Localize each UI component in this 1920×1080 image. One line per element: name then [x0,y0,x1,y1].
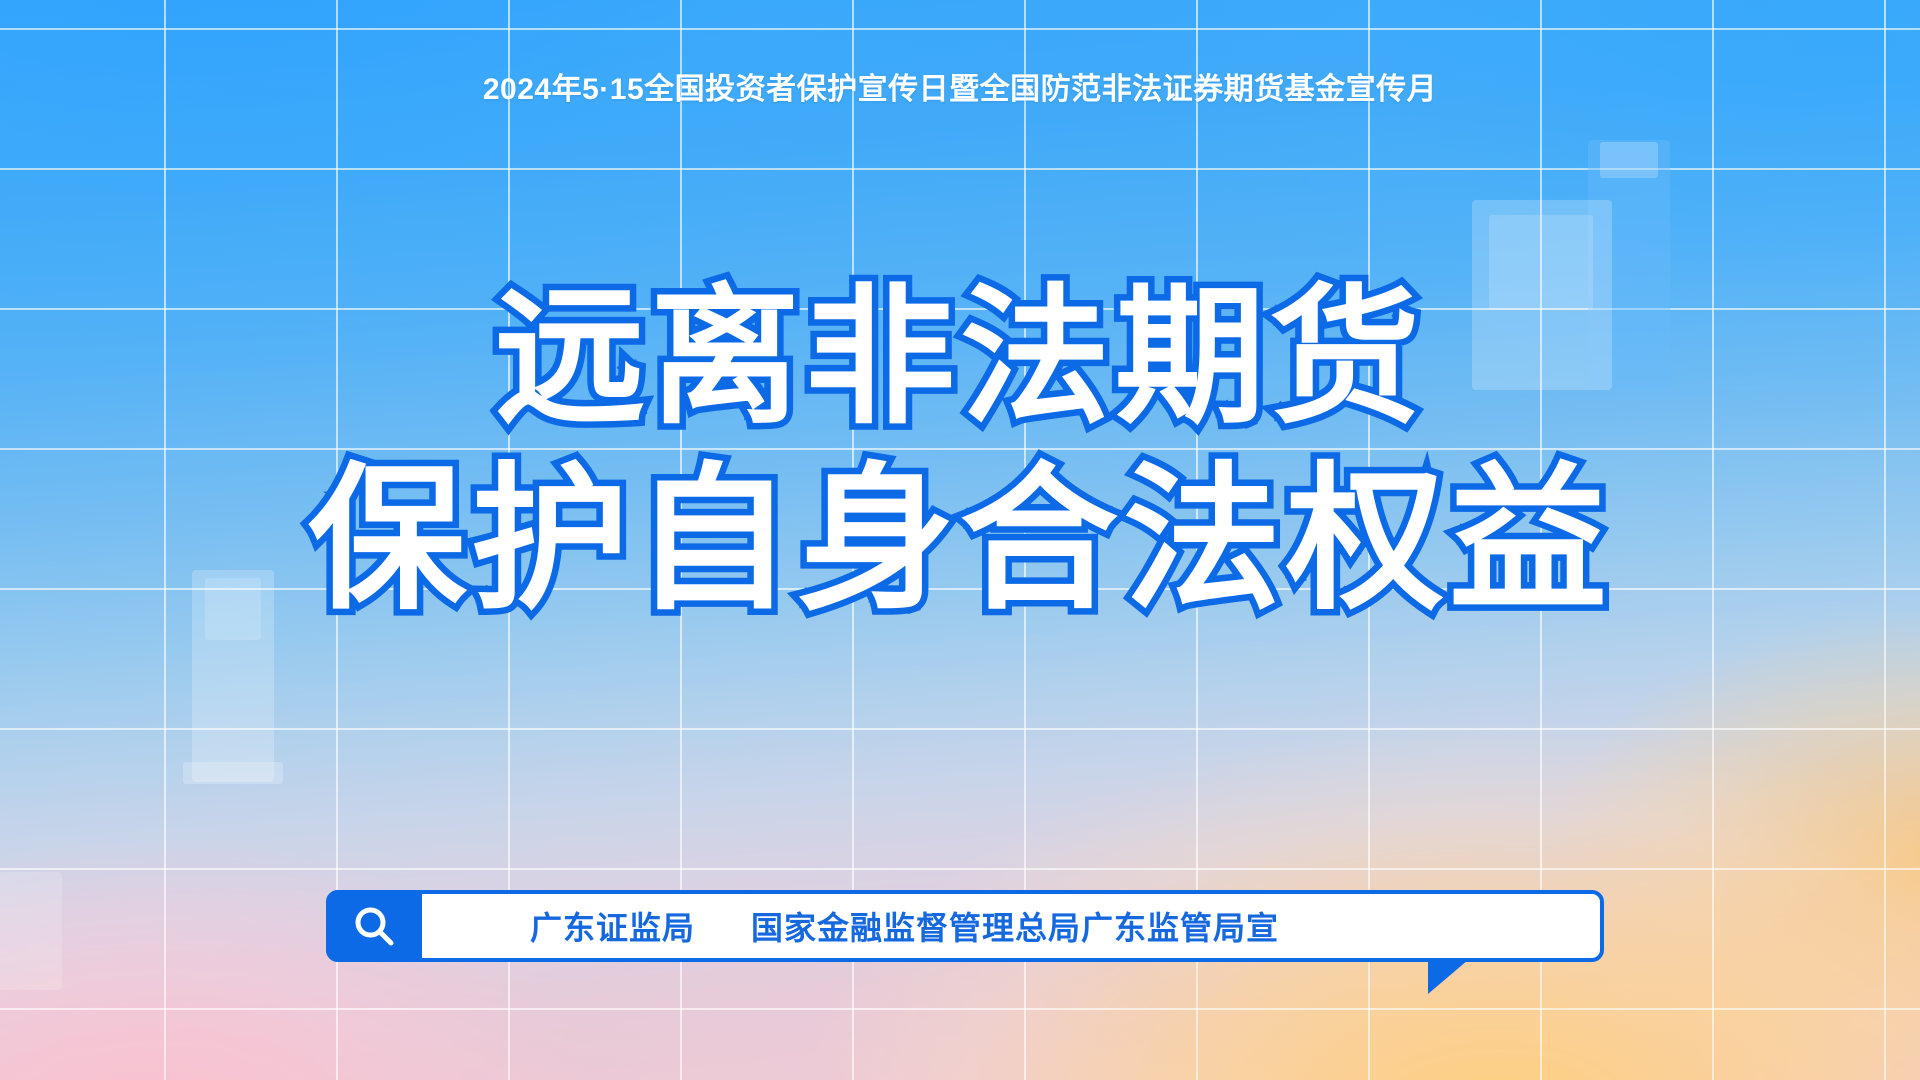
poster-canvas: 2024年5·15全国投资者保护宣传日暨全国防范非法证券期货基金宣传月 远离非法… [0,0,1920,1080]
page-title-line-2: 保护自身合法权益 [0,446,1920,634]
decor-panel-left-foot [183,762,283,784]
page-header-text: 2024年5·15全国投资者保护宣传日暨全国防范非法证券期货基金宣传月 [0,64,1920,108]
organization-name-2: 国家金融监督管理总局广东监管局宣 [751,903,1279,949]
organization-name-1: 广东证监局 [530,903,695,949]
page-title: 远离非法期货 保护自身合法权益 [0,268,1920,634]
search-icon-chip [326,890,422,962]
decor-block-bottom-left [0,872,62,990]
footer-bar-tail [1428,960,1468,994]
page-title-line-1: 远离非法期货 [0,268,1920,446]
footer-bar: 广东证监局 国家金融监督管理总局广东监管局宣 [326,890,1604,962]
decor-bar-right-top [1600,142,1658,178]
organization-list: 广东证监局 国家金融监督管理总局广东监管局宣 [530,903,1279,949]
search-icon [351,903,397,949]
